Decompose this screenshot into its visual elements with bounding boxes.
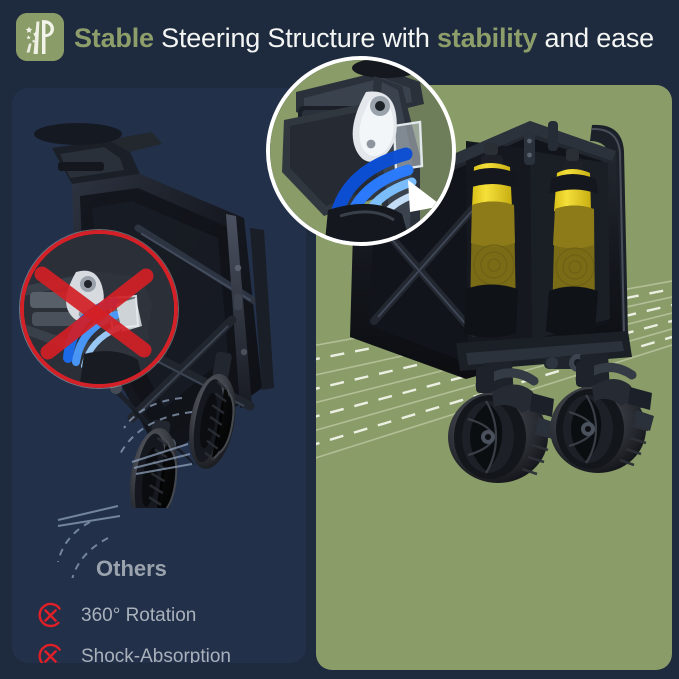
circle-x-icon	[37, 643, 64, 663]
title-accent-1: Stable	[74, 23, 154, 53]
list-item-label: 360° Rotation	[81, 605, 196, 627]
title-plain-1: Steering Structure with	[154, 23, 437, 53]
list-item: Shock-Absorption	[37, 643, 231, 663]
list-item: 360° Rotation	[37, 602, 196, 629]
list-item-label: Shock-Absorption	[81, 646, 231, 664]
title-plain-2: and ease	[537, 23, 654, 53]
page-title: Stable Steering Structure with stability…	[74, 17, 674, 59]
good-swivel-detail-image	[270, 60, 452, 242]
bad-swivel-detail-inset	[20, 230, 178, 388]
pegasus-p-stars-logo-icon	[16, 13, 64, 61]
promo-graphic: Stable Steering Structure with stability…	[0, 0, 679, 679]
good-swivel-detail-inset	[266, 56, 456, 246]
others-comparison-panel: Others 360° Rotation Sho	[12, 88, 306, 663]
title-accent-2: stability	[437, 23, 537, 53]
restricted-wheel-motion-dashed-arc	[12, 378, 306, 578]
circle-x-icon	[37, 602, 64, 629]
bad-swivel-detail-image	[24, 234, 174, 384]
others-heading: Others	[96, 556, 167, 582]
